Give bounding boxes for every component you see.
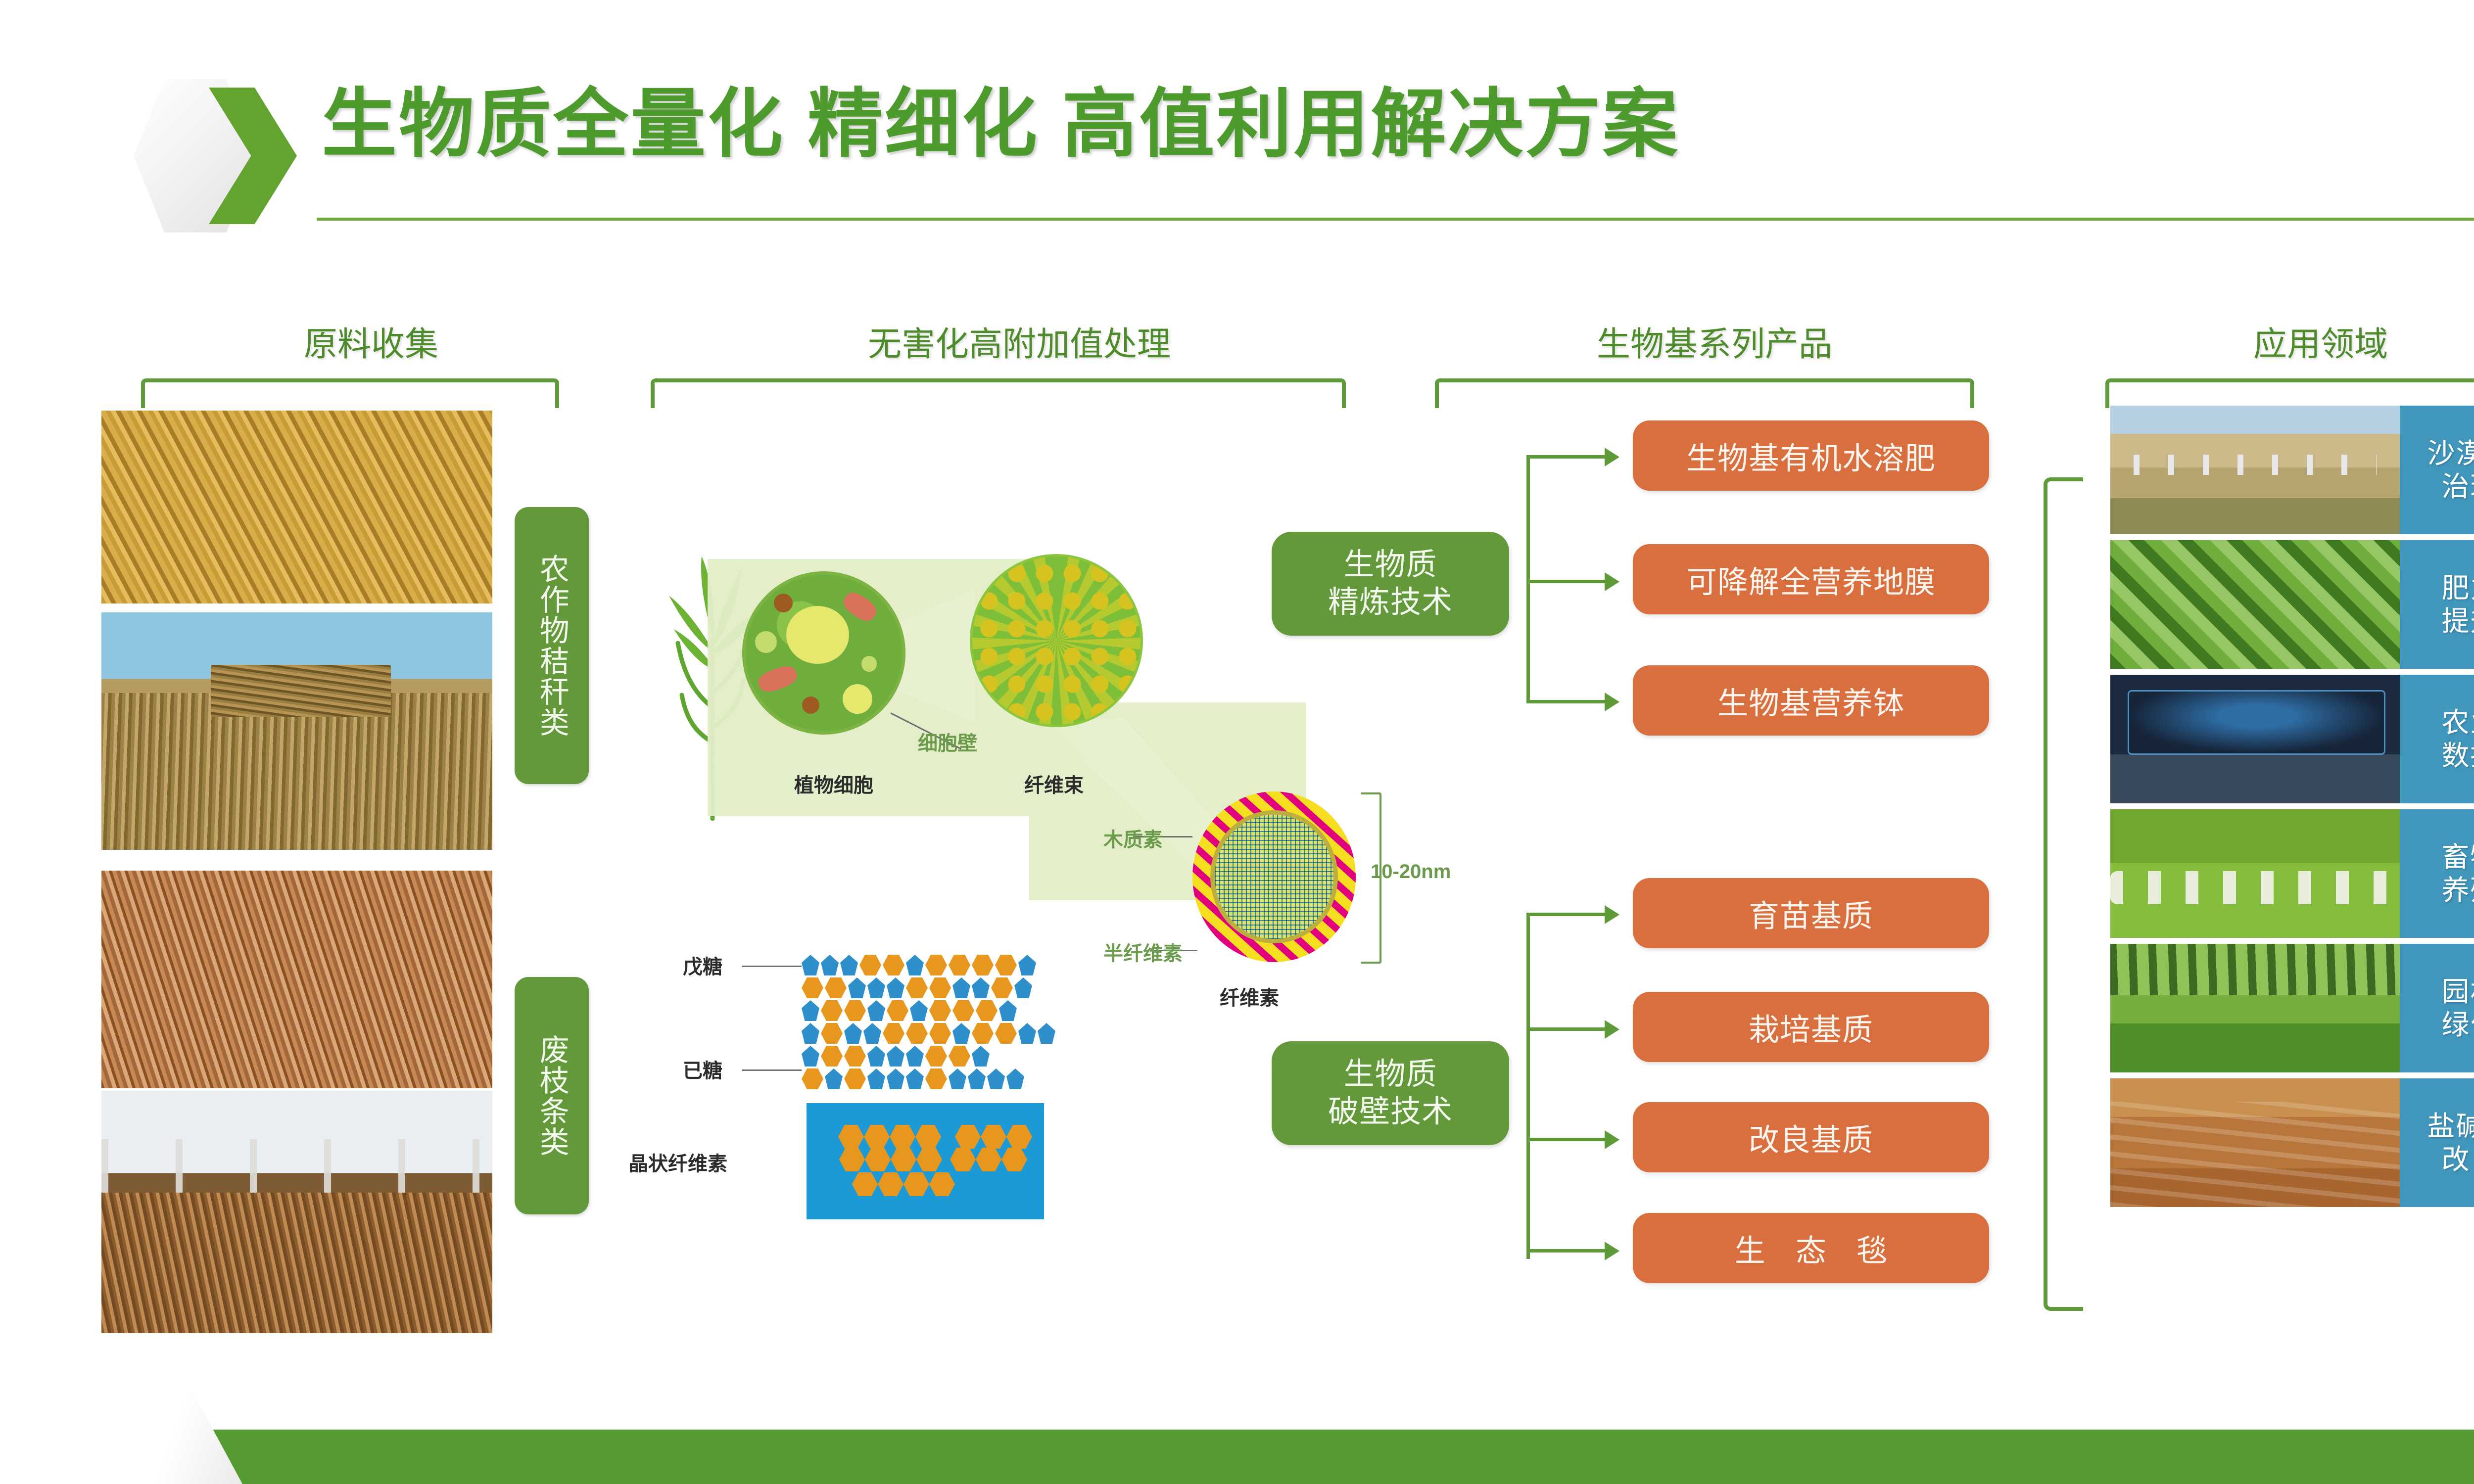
arrow-wallbreaking-2 xyxy=(1605,1020,1619,1039)
sugar-chain-illustration xyxy=(802,955,1079,1093)
product-pill-organic-fertilizer[interactable]: 生物基有机水溶肥 xyxy=(1633,420,1989,491)
arrow-refining-2 xyxy=(1605,572,1619,591)
product-pill-nutrition-pot[interactable]: 生物基营养钵 xyxy=(1633,665,1989,736)
product-pill-cultivation-substrate[interactable]: 栽培基质 xyxy=(1633,992,1989,1062)
label-cellulose: 纤维素 xyxy=(1220,982,1279,1011)
tech-refining-line1: 生物质 xyxy=(1343,546,1437,584)
connector-wallbreaking-to-pill-4 xyxy=(1526,1249,1606,1252)
connector-wallbreaking-to-pill-1 xyxy=(1526,913,1606,916)
arrow-wallbreaking-3 xyxy=(1605,1130,1619,1149)
footer-bar xyxy=(0,1430,2474,1484)
bracket-applications-left xyxy=(2044,477,2083,1311)
application-row-fertility[interactable]: 肥力 提升 xyxy=(2110,540,2474,669)
product-pill-ecological-blanket[interactable]: 生 态 毯 xyxy=(1633,1213,1989,1283)
connector-refining-to-pill-3 xyxy=(1526,700,1606,703)
application-agri-data-line2: 数据 xyxy=(2442,739,2474,772)
application-label-desert: 沙漠化 治理 xyxy=(2400,406,2474,534)
section-heading-raw-material: 原料收集 xyxy=(148,317,594,366)
application-label-saline: 盐碱地 改良 xyxy=(2400,1078,2474,1207)
fiber-bundle-illustration xyxy=(970,554,1143,727)
cabbage-field-photo xyxy=(2110,540,2400,669)
section-heading-products: 生物基系列产品 xyxy=(1413,317,2016,366)
arrow-refining-1 xyxy=(1605,448,1619,466)
application-label-greening: 园林 绿化 xyxy=(2400,944,2474,1072)
title-divider xyxy=(317,218,2474,221)
grazing-sheep-photo xyxy=(2110,809,2400,938)
application-label-fertility: 肥力 提升 xyxy=(2400,540,2474,669)
data-screen-photo xyxy=(2110,675,2400,803)
crop-straw-photo xyxy=(101,411,492,603)
label-lignin: 木质素 xyxy=(1103,824,1163,852)
leader-pentose xyxy=(742,966,802,967)
application-fertility-line2: 提升 xyxy=(2442,604,2474,638)
application-desert-line1: 沙漠化 xyxy=(2427,437,2474,470)
tech-wallbreaking-line1: 生物质 xyxy=(1343,1056,1437,1093)
connector-wallbreaking-spine xyxy=(1526,913,1530,1259)
application-label-agri-data: 农业 数据 xyxy=(2400,675,2474,803)
label-cell-wall: 细胞壁 xyxy=(918,727,977,756)
label-crystalline-cellulose: 晶状纤维素 xyxy=(628,1148,727,1176)
application-saline-line2: 改良 xyxy=(2442,1143,2474,1176)
bracket-products xyxy=(1435,378,1974,408)
connector-refining-to-pill-2 xyxy=(1526,580,1606,583)
product-pill-seedling-substrate[interactable]: 育苗基质 xyxy=(1633,878,1989,948)
arrow-wallbreaking-4 xyxy=(1605,1242,1619,1260)
connector-refining-to-pill-1 xyxy=(1526,455,1606,459)
application-fertility-line1: 肥力 xyxy=(2442,571,2474,604)
application-row-desert[interactable]: 沙漠化 治理 xyxy=(2110,406,2474,534)
product-pill-improvement-substrate[interactable]: 改良基质 xyxy=(1633,1102,1989,1172)
label-scale-10-20nm: 10-20nm xyxy=(1371,861,1451,883)
arrow-refining-3 xyxy=(1605,693,1619,711)
tech-wallbreaking-line2: 破壁技术 xyxy=(1328,1093,1453,1131)
label-pentose: 戊糖 xyxy=(683,951,722,979)
application-greening-line1: 园林 xyxy=(2442,975,2474,1008)
application-row-livestock[interactable]: 畜牧 养殖 xyxy=(2110,809,2474,938)
arrow-wallbreaking-1 xyxy=(1605,905,1619,924)
connector-wallbreaking-to-pill-3 xyxy=(1526,1138,1606,1141)
tech-refining-line2: 精炼技术 xyxy=(1328,584,1453,621)
application-row-greening[interactable]: 园林 绿化 xyxy=(2110,944,2474,1072)
leader-hexose xyxy=(742,1069,802,1071)
cellulose-cross-section-illustration xyxy=(1192,791,1356,962)
application-label-livestock: 畜牧 养殖 xyxy=(2400,809,2474,938)
application-livestock-line2: 养殖 xyxy=(2442,874,2474,907)
landscape-greening-photo xyxy=(2110,944,2400,1072)
label-fiber-bundle: 纤维束 xyxy=(1024,769,1084,798)
application-desert-line2: 治理 xyxy=(2442,470,2474,503)
tech-box-wallbreaking[interactable]: 生物质 破壁技术 xyxy=(1272,1041,1509,1145)
orchard-pruning-photo xyxy=(101,1091,492,1333)
application-livestock-line1: 畜牧 xyxy=(2442,840,2474,874)
application-agri-data-line1: 农业 xyxy=(2442,706,2474,739)
straw-bale-field-photo xyxy=(101,612,492,850)
hexagon-chevron-logo-icon xyxy=(134,79,297,232)
page-title: 生物质全量化 精细化 高值利用解决方案 xyxy=(322,83,1679,166)
tech-box-refining[interactable]: 生物质 精炼技术 xyxy=(1272,532,1509,636)
pruned-branches-photo xyxy=(101,871,492,1088)
desert-control-photo xyxy=(2110,406,2400,534)
bracket-raw-material xyxy=(141,378,559,408)
section-heading-applications: 应用领域 xyxy=(2098,317,2474,366)
application-row-agri-data[interactable]: 农业 数据 xyxy=(2110,675,2474,803)
label-hemicellulose: 半纤维素 xyxy=(1103,937,1183,966)
product-pill-biodegradable-film[interactable]: 可降解全营养地膜 xyxy=(1633,544,1989,614)
bracket-processing xyxy=(651,378,1346,408)
crystalline-cellulose-illustration xyxy=(807,1103,1044,1219)
connector-wallbreaking-to-pill-2 xyxy=(1526,1027,1606,1031)
connector-refining-spine xyxy=(1526,455,1530,702)
label-plant-cell: 植物细胞 xyxy=(794,769,873,798)
category-tab-waste-branch[interactable]: 废枝条类 xyxy=(515,977,589,1214)
application-row-saline[interactable]: 盐碱地 改良 xyxy=(2110,1078,2474,1207)
application-saline-line1: 盐碱地 xyxy=(2427,1110,2474,1143)
section-heading-processing: 无害化高附加值处理 xyxy=(648,317,1390,366)
label-hexose: 已糖 xyxy=(683,1055,722,1083)
plant-cell-illustration xyxy=(742,571,905,735)
application-greening-line2: 绿化 xyxy=(2442,1008,2474,1041)
page-header: 生物质全量化 精细化 高值利用解决方案 xyxy=(0,0,2474,247)
category-tab-crop-straw[interactable]: 农作物秸秆类 xyxy=(515,507,589,784)
bracket-applications xyxy=(2105,378,2474,408)
saline-land-photo xyxy=(2110,1078,2400,1207)
